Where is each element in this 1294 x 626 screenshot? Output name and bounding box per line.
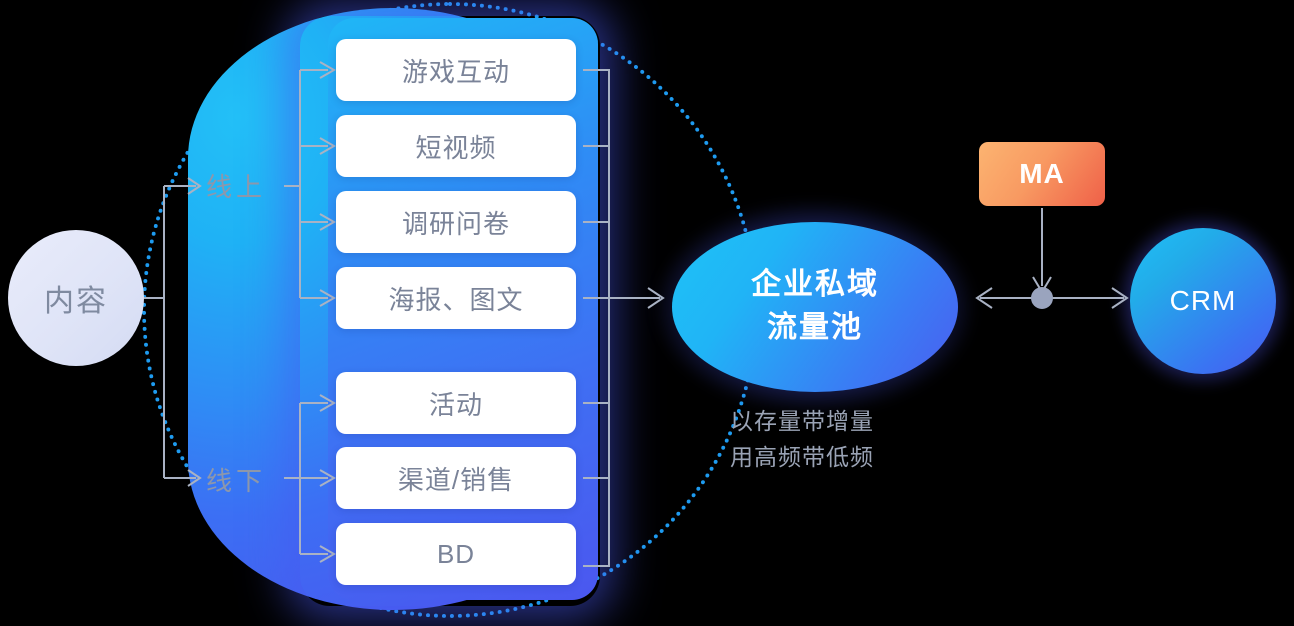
channel-card-label: 海报、图文 — [388, 280, 523, 317]
crm-circle[interactable]: CRM — [1130, 228, 1276, 374]
slogan-text: 以存量带增量 用高频带低频 — [730, 404, 874, 475]
channel-card-short-video[interactable]: 短视频 — [336, 115, 576, 177]
content-source-circle[interactable]: 内容 — [8, 230, 144, 366]
pool-label-line2: 流量池 — [767, 307, 863, 350]
slogan-line-1: 以存量带增量 — [730, 404, 874, 440]
channel-card-poster-graphics[interactable]: 海报、图文 — [336, 267, 576, 329]
hub-node-dot — [1031, 287, 1053, 309]
private-traffic-pool[interactable]: 企业私域 流量池 — [672, 222, 958, 392]
group-label-online: 线上 — [206, 167, 266, 204]
arrowhead-ma-down — [1033, 277, 1051, 292]
channel-card-label: BD — [437, 539, 475, 570]
pool-label-line1: 企业私域 — [751, 264, 879, 307]
diagram-canvas: 游戏互动 短视频 调研问卷 海报、图文 活动 渠道/销售 BD 内容 线上 线下… — [0, 0, 1294, 626]
content-source-label: 内容 — [44, 276, 108, 320]
channel-card-label: 活动 — [429, 385, 483, 422]
ma-label: MA — [1019, 158, 1065, 190]
channel-card-label: 游戏互动 — [402, 52, 510, 89]
ma-box[interactable]: MA — [979, 142, 1105, 206]
channel-card-game-interaction[interactable]: 游戏互动 — [336, 39, 576, 101]
channel-card-bd[interactable]: BD — [336, 523, 576, 585]
group-label-offline: 线下 — [206, 461, 266, 498]
slogan-line-2: 用高频带低频 — [730, 440, 874, 476]
channel-card-label: 渠道/销售 — [398, 460, 514, 497]
arrowhead-to-pool-left — [977, 288, 992, 308]
crm-label: CRM — [1170, 285, 1237, 317]
channel-card-event[interactable]: 活动 — [336, 372, 576, 434]
channel-card-label: 短视频 — [415, 128, 496, 165]
channel-card-label: 调研问卷 — [402, 204, 510, 241]
channel-card-channel-sales[interactable]: 渠道/销售 — [336, 447, 576, 509]
channel-card-survey[interactable]: 调研问卷 — [336, 191, 576, 253]
